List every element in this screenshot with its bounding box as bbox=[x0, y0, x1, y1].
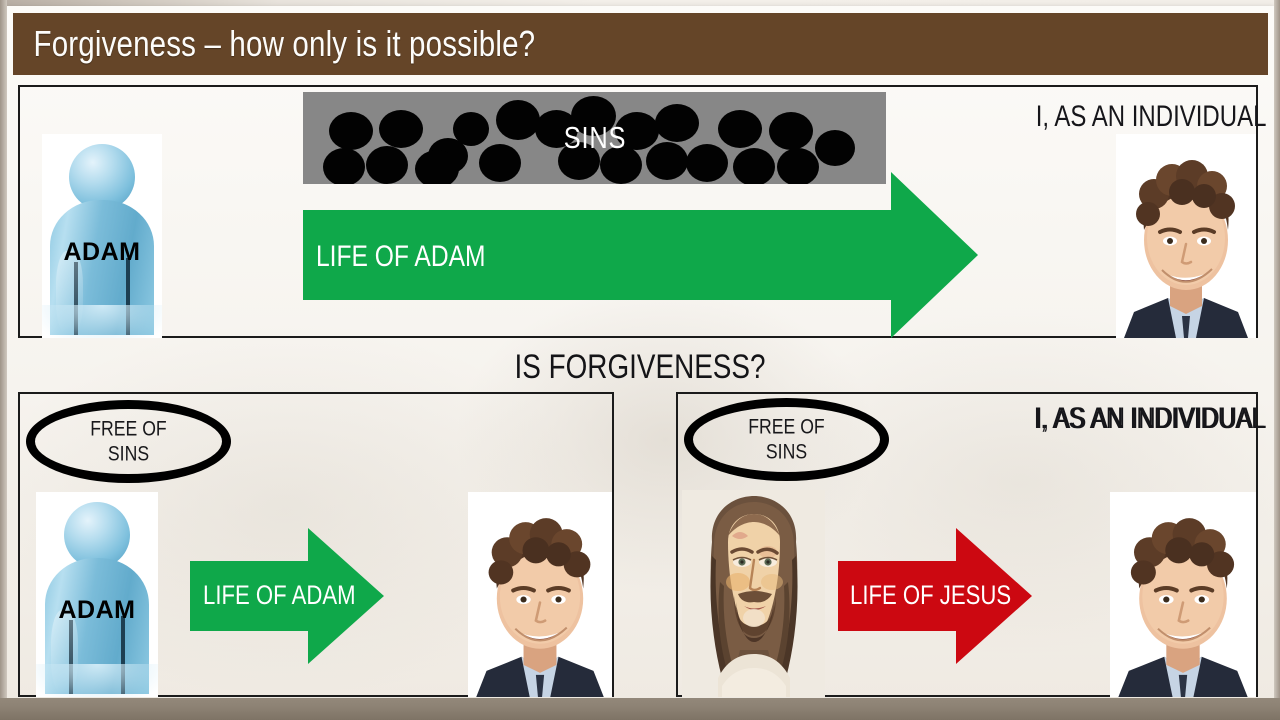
jesus-portrait-icon bbox=[682, 490, 825, 697]
adam-figure-bottom-left: ADAM bbox=[36, 492, 158, 697]
badge-free-of-sins-right-label: FREE OF SINS bbox=[700, 414, 872, 465]
person-photo-bottom-right bbox=[1110, 492, 1256, 697]
sin-dot bbox=[329, 112, 373, 150]
label-individual-top: I, AS AN INDIVIDUAL bbox=[1035, 100, 1266, 134]
slide-right-edge bbox=[1274, 0, 1280, 700]
sin-dot bbox=[718, 110, 762, 148]
adam-figure-top: ADAM bbox=[42, 134, 162, 338]
question-is-forgiveness: IS FORGIVENESS? bbox=[115, 348, 1165, 387]
sin-dot bbox=[453, 112, 489, 146]
sins-box: SINS bbox=[303, 92, 886, 184]
slide-bottom-edge bbox=[0, 698, 1280, 720]
sin-dot bbox=[496, 100, 540, 140]
label-individual-bottom-right: I, AS AN INDIVIDUAL bbox=[1033, 402, 1264, 436]
slide-root: Forgiveness – how only is it possible? A… bbox=[0, 0, 1280, 720]
sins-label: SINS bbox=[563, 120, 626, 156]
sin-dot bbox=[815, 130, 855, 166]
arrow-label-life-of-adam-top: LIFE OF ADAM bbox=[316, 240, 486, 274]
adam-label-bottom-left: ADAM bbox=[36, 596, 158, 625]
adam-floor-shadow bbox=[36, 664, 158, 697]
person-photo-top bbox=[1116, 134, 1256, 338]
arrow-label-life-of-adam-bottom: LIFE OF ADAM bbox=[203, 580, 356, 611]
title-bar: Forgiveness – how only is it possible? bbox=[13, 13, 1268, 75]
sin-dot bbox=[379, 110, 423, 148]
badge-free-of-sins-left: FREE OF SINS bbox=[26, 400, 231, 483]
slide-left-edge bbox=[0, 0, 7, 700]
sin-dot bbox=[655, 104, 699, 142]
adam-label-top: ADAM bbox=[42, 238, 162, 267]
adam-floor-shadow bbox=[42, 305, 162, 338]
arrow-label-life-of-jesus: LIFE OF JESUS bbox=[850, 580, 1011, 611]
badge-free-of-sins-right: FREE OF SINS bbox=[684, 398, 889, 481]
badge-free-of-sins-left-label: FREE OF SINS bbox=[42, 416, 214, 467]
sin-dot bbox=[769, 112, 813, 150]
person-photo-bottom-left bbox=[468, 492, 612, 697]
page-title: Forgiveness – how only is it possible? bbox=[13, 23, 535, 65]
